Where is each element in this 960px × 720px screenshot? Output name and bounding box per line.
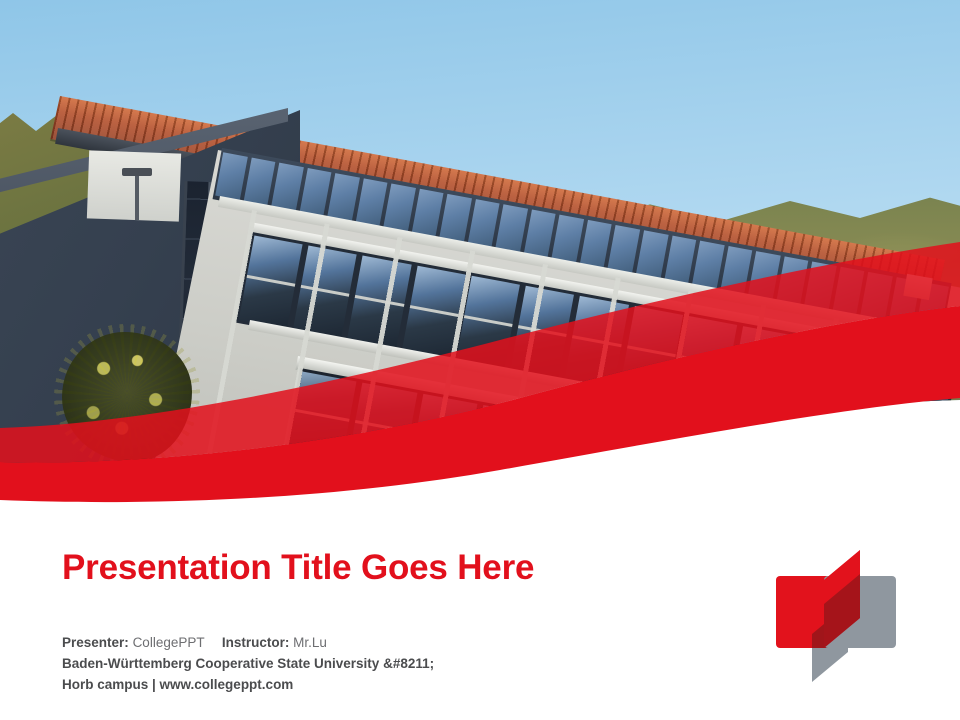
exterior-lamp [122,168,152,176]
tree-canopy [62,332,192,462]
dhbw-logo [766,548,906,688]
instructor-label: Instructor: [222,635,290,650]
campus-building-photo [0,0,960,500]
presenter-line: Presenter: CollegePPT Instructor: Mr.Lu [62,632,434,653]
presentation-slide: Presentation Title Goes Here Presenter: … [0,0,960,720]
presenter-label: Presenter: [62,635,129,650]
page-title: Presentation Title Goes Here [62,548,534,588]
presenter-info: Presenter: CollegePPT Instructor: Mr.Lu … [62,632,434,695]
instructor-value: Mr.Lu [293,635,327,650]
gable-white-panel [87,150,181,221]
university-line: Baden-Württemberg Cooperative State Univ… [62,653,434,674]
campus-website-line: Horb campus | www.collegeppt.com [62,674,434,695]
rooftop-unit [903,274,932,300]
presenter-value: CollegePPT [133,635,205,650]
